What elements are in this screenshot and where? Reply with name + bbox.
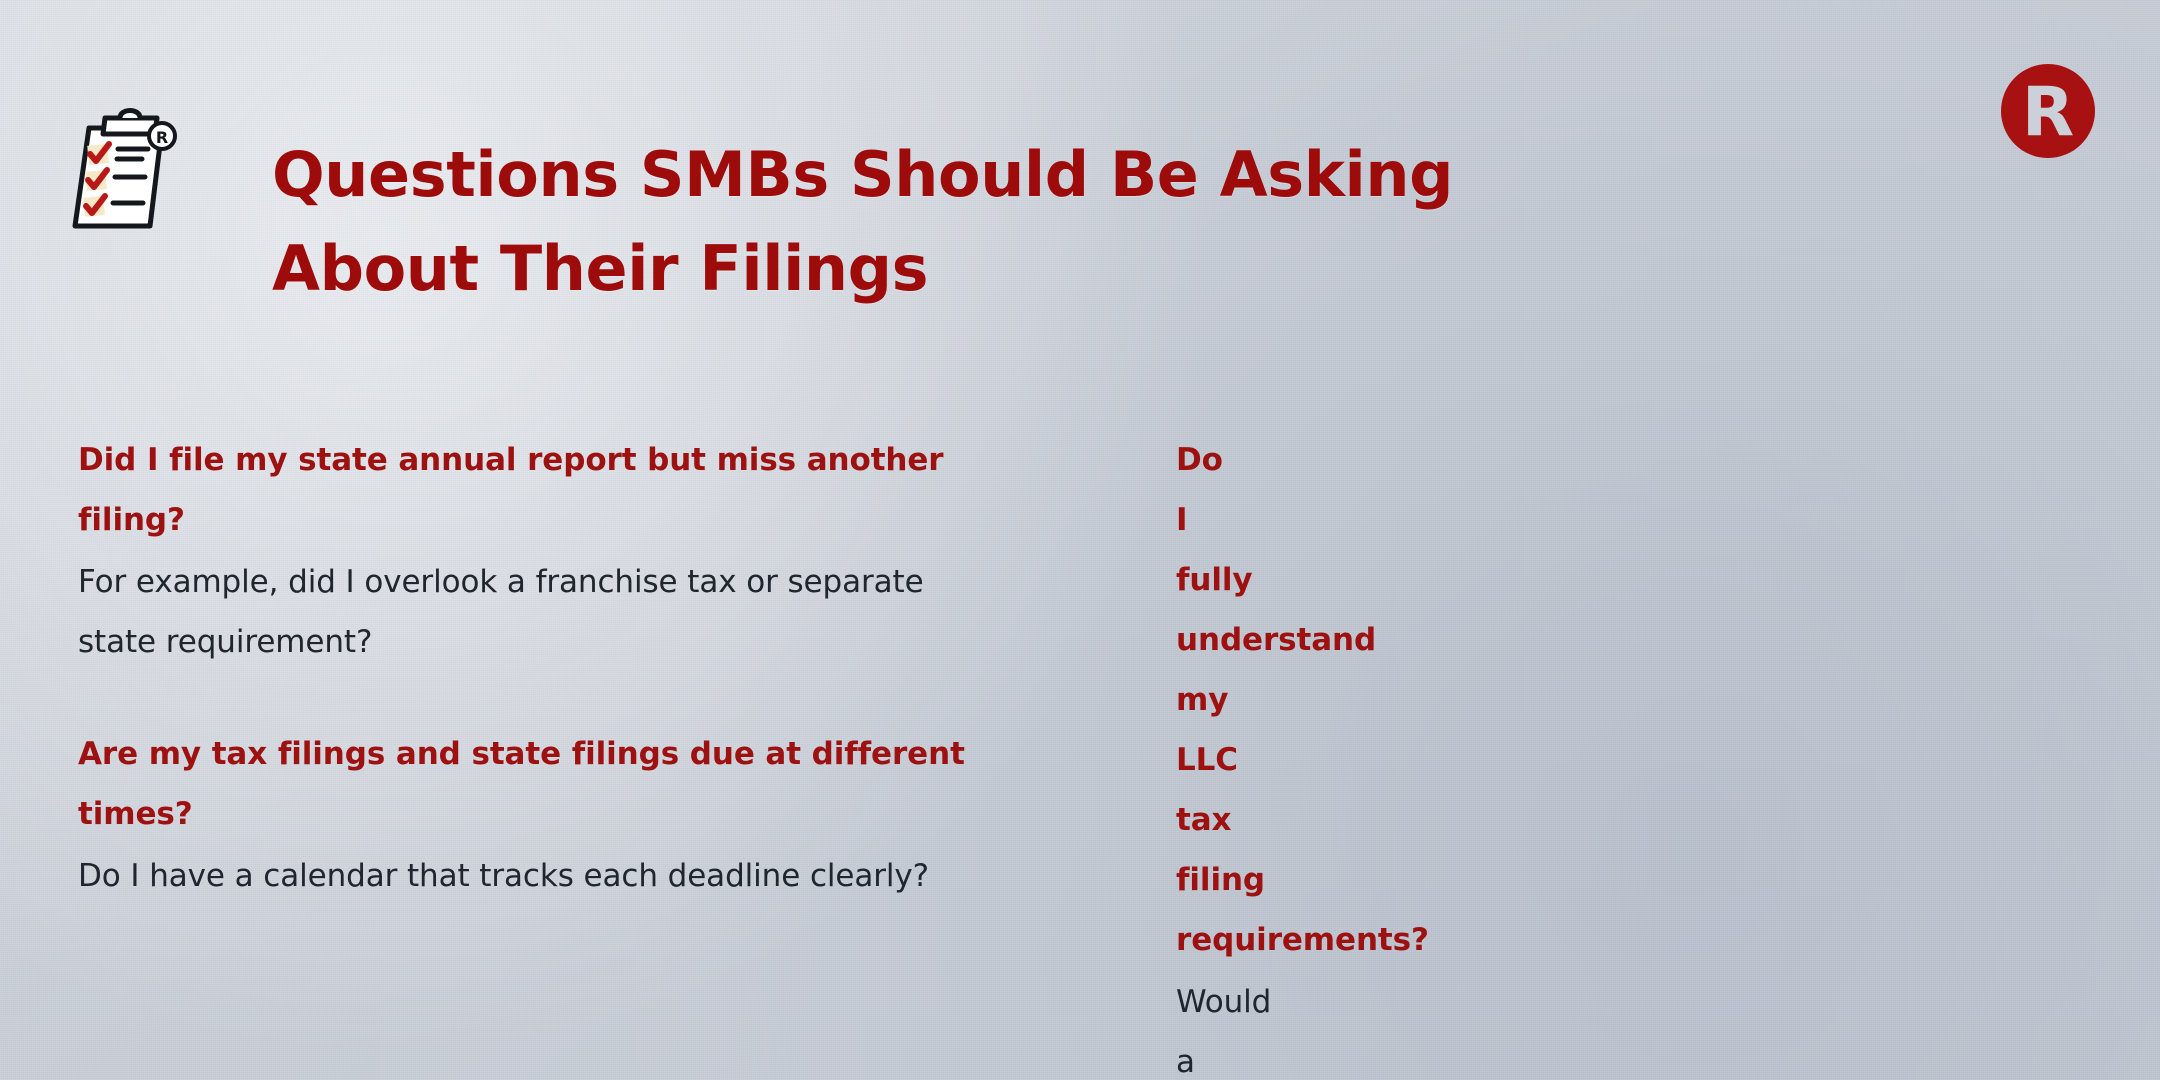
qa-column-right: Do I fully understand my LLC tax filing … — [162, 430, 1242, 1080]
qa-answer: Would a tax professional or Legal Pro sp… — [1176, 972, 1182, 1080]
rocket-lawyer-r-logo: R — [1995, 58, 2101, 164]
infographic-canvas: R Questions SMBs Should Be Asking About … — [0, 0, 2160, 1080]
qa-columns: Did I file my state annual report but mi… — [0, 430, 2160, 1080]
page-title-line-2: About Their Filings — [272, 222, 1872, 316]
qa-block: Do I fully understand my LLC tax filing … — [1176, 430, 1182, 1080]
qa-question: Do I fully understand my LLC tax filing … — [1176, 430, 1182, 970]
page-title: Questions SMBs Should Be Asking About Th… — [272, 128, 1872, 316]
clipboard-checklist-icon: R — [58, 104, 184, 230]
logo-letter: R — [2022, 73, 2074, 152]
svg-text:R: R — [156, 128, 168, 147]
page-title-line-1: Questions SMBs Should Be Asking — [272, 128, 1872, 222]
